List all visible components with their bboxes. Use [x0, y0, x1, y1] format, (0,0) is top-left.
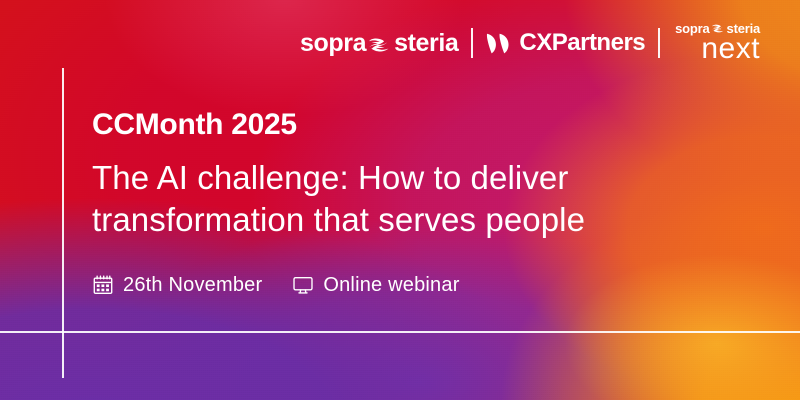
logo-separator-1 — [471, 28, 473, 58]
event-meta-row: 26th November Online webinar — [92, 274, 752, 296]
sopra-steria-word-left: sopra — [300, 31, 366, 56]
calendar-icon — [92, 274, 114, 296]
event-eyebrow: CCMonth 2025 — [92, 108, 752, 141]
event-format: Online webinar — [292, 274, 459, 296]
monitor-icon — [292, 274, 314, 296]
headline: The AI challenge: How to deliver transfo… — [92, 157, 672, 240]
sopra-steria-word-right: steria — [394, 31, 458, 56]
sopra-steria-s-mark-icon — [369, 34, 391, 52]
cxpartners-logo[interactable]: CXPartners — [486, 31, 645, 55]
next-wordmark: next — [701, 34, 760, 64]
event-date: 26th November — [92, 274, 262, 296]
logo-bar: sopra steria CXPartners sopra — [300, 20, 788, 66]
sopra-steria-s-mark-icon-small — [712, 23, 725, 34]
event-date-label: 26th November — [123, 275, 262, 295]
content-block: CCMonth 2025 The AI challenge: How to de… — [92, 108, 752, 296]
sopra-steria-logo[interactable]: sopra steria — [300, 31, 458, 56]
event-format-label: Online webinar — [323, 275, 459, 295]
headline-line-1: The AI challenge: How to deliver — [92, 157, 672, 199]
sopra-steria-next-logo[interactable]: sopra steria next — [673, 22, 760, 64]
headline-line-2: transformation that serves people — [92, 199, 672, 241]
cxpartners-wordmark: CXPartners — [519, 31, 645, 55]
webinar-promo-banner: sopra steria CXPartners sopra — [0, 0, 800, 400]
cxpartners-petal-mark-icon — [486, 33, 512, 54]
horizontal-rule — [0, 331, 800, 333]
logo-separator-2 — [658, 28, 660, 58]
